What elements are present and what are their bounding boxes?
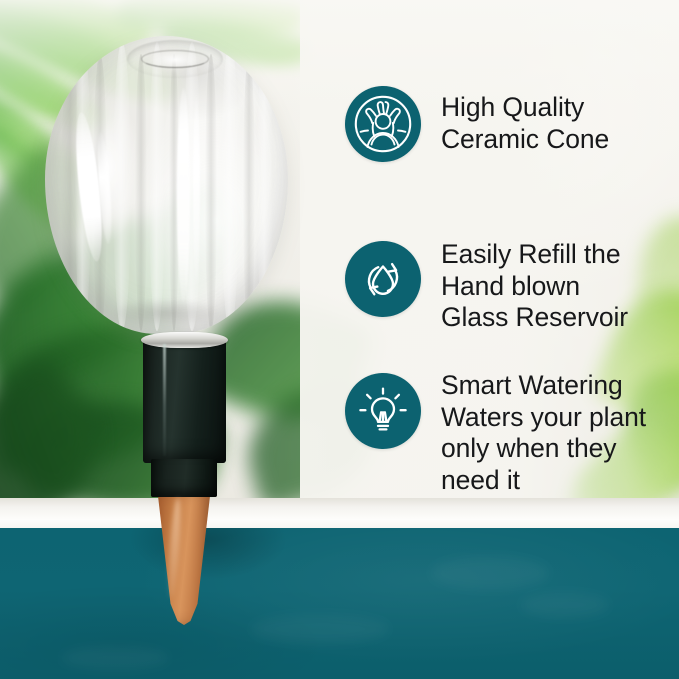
feature-item-easy-refill: Easily Refill the Hand blown Glass Reser… (345, 241, 628, 334)
infographic-canvas: High Quality Ceramic Cone Easily Refill … (0, 0, 679, 679)
feature-text: Smart Watering Waters your plant only wh… (441, 369, 646, 496)
feature-text: High Quality Ceramic Cone (441, 86, 609, 155)
collar-highlight (163, 344, 166, 456)
terracotta-cone (157, 492, 211, 625)
collar-upper (143, 339, 226, 463)
glass-neck-rim (141, 332, 228, 348)
feature-list: High Quality Ceramic Cone Easily Refill … (345, 0, 679, 528)
hands-holding-sphere-icon (345, 86, 421, 162)
product-image (0, 0, 340, 679)
refill-droplet-recycle-icon (345, 241, 421, 317)
glass-globe-reservoir (45, 36, 288, 334)
collar-lower (151, 459, 217, 497)
feature-text: Easily Refill the Hand blown Glass Reser… (441, 238, 628, 334)
feature-item-ceramic-cone: High Quality Ceramic Cone (345, 86, 609, 162)
feature-item-smart-watering: Smart Watering Waters your plant only wh… (345, 373, 646, 496)
lightbulb-idea-icon (345, 373, 421, 449)
